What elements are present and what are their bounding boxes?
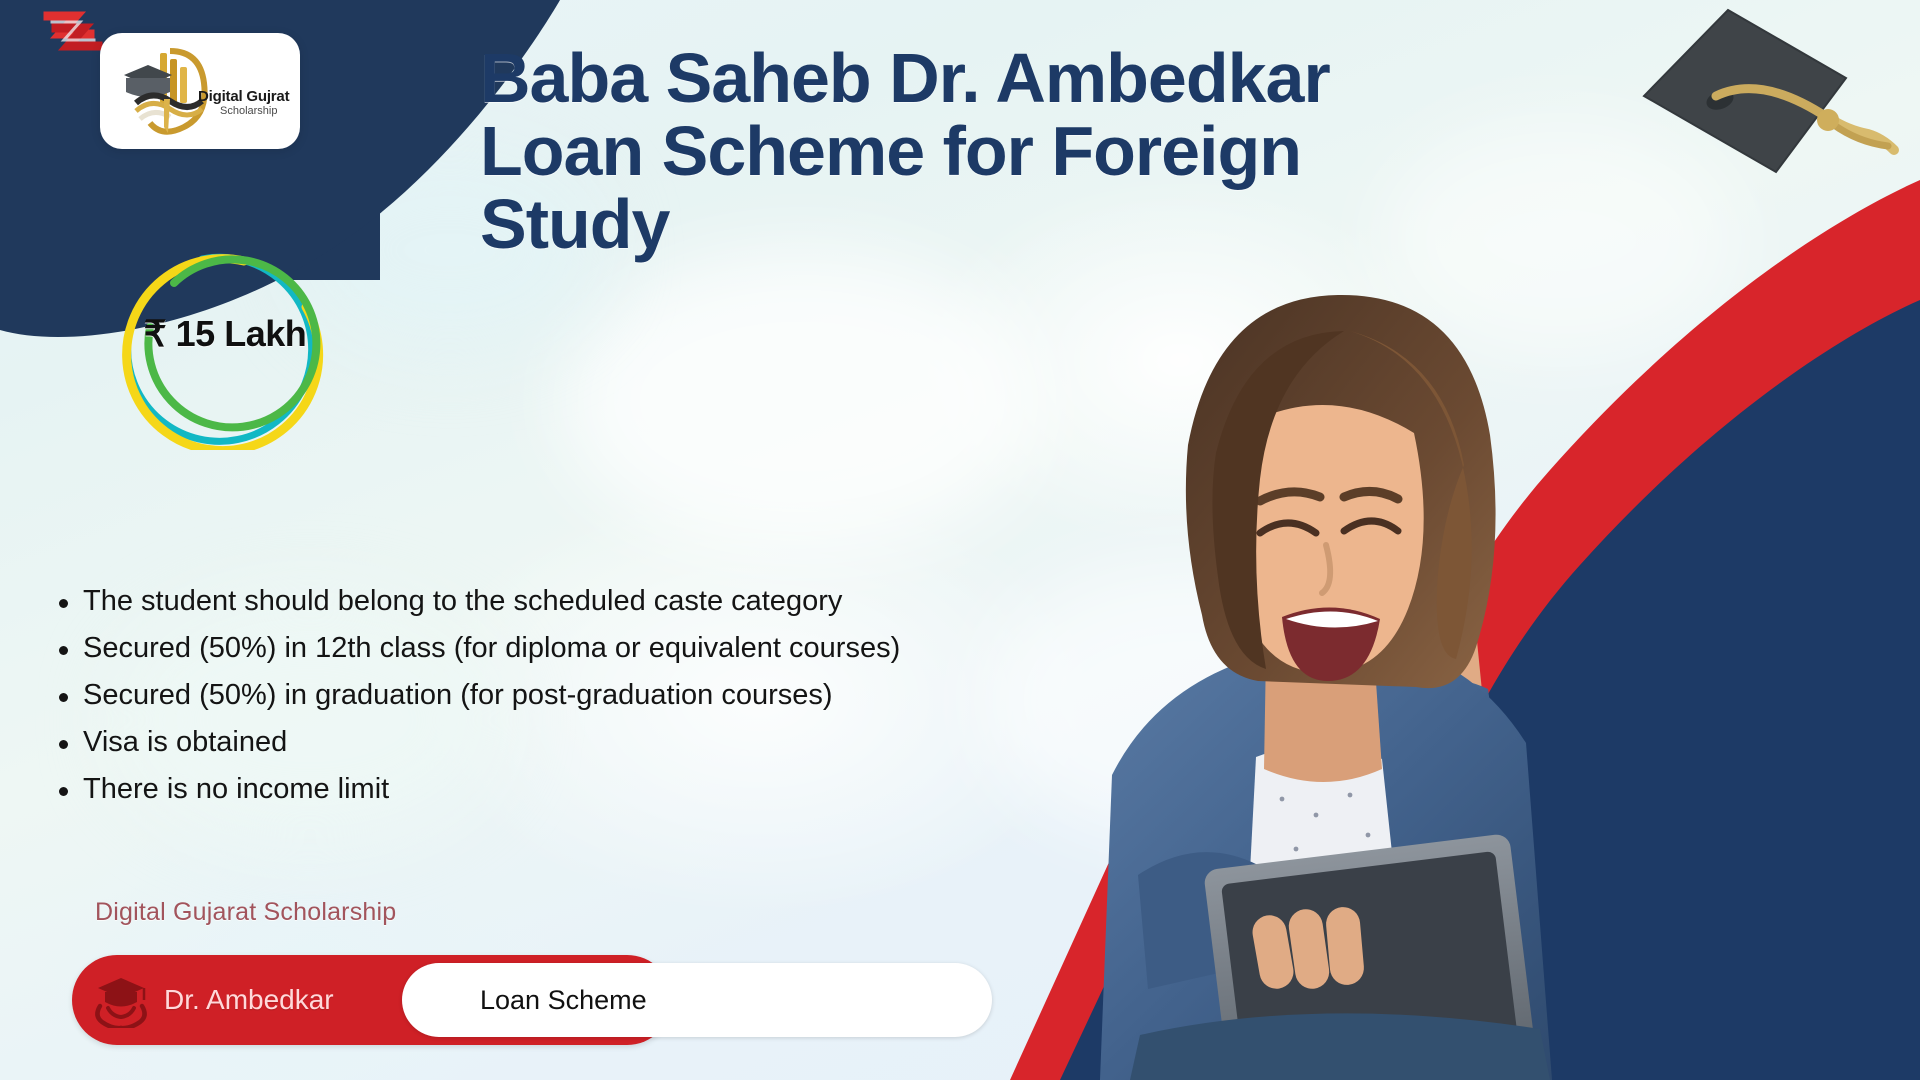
red-zigzag-s-mark-icon: [40, 6, 106, 62]
title-line-3: Study: [480, 188, 1480, 261]
page-title: Baba Saheb Dr. Ambedkar Loan Scheme for …: [480, 42, 1480, 260]
amount-value: ₹ 15 Lakh: [100, 313, 350, 355]
title-line-2: Loan Scheme for Foreign: [480, 115, 1480, 188]
logo-wordmark: Digital Gujrat Scholarship: [198, 89, 298, 117]
badge-label: Dr. Ambedkar: [164, 984, 334, 1016]
logo-name-line1: Digital Gujrat: [198, 89, 298, 104]
poster-canvas: Digital Gujrat Scholarship Baba Saheb Dr…: [0, 0, 1920, 1080]
graduation-cap-photo-icon: [1608, 4, 1908, 234]
footer-caption: Digital Gujarat Scholarship: [95, 898, 396, 927]
badge-pill[interactable]: Loan Scheme: [402, 963, 992, 1037]
list-item: Secured (50%) in 12th class (for diploma…: [83, 625, 1135, 672]
title-line-1: Baba Saheb Dr. Ambedkar: [480, 42, 1480, 115]
badge-pill-label: Loan Scheme: [480, 985, 647, 1016]
scheme-badge[interactable]: Dr. Ambedkar Loan Scheme: [72, 955, 672, 1045]
logo-name-line2: Scholarship: [220, 106, 298, 117]
amount-badge: ₹ 15 Lakh: [100, 245, 350, 450]
list-item: There is no income limit: [83, 766, 1135, 813]
eligibility-list: The student should belong to the schedul…: [45, 578, 1135, 813]
brand-logo-card[interactable]: Digital Gujrat Scholarship: [100, 33, 300, 149]
list-item: The student should belong to the schedul…: [83, 578, 1135, 625]
graduation-cap-in-hands-icon: [90, 972, 152, 1028]
list-item: Visa is obtained: [83, 719, 1135, 766]
list-item: Secured (50%) in graduation (for post-gr…: [83, 672, 1135, 719]
